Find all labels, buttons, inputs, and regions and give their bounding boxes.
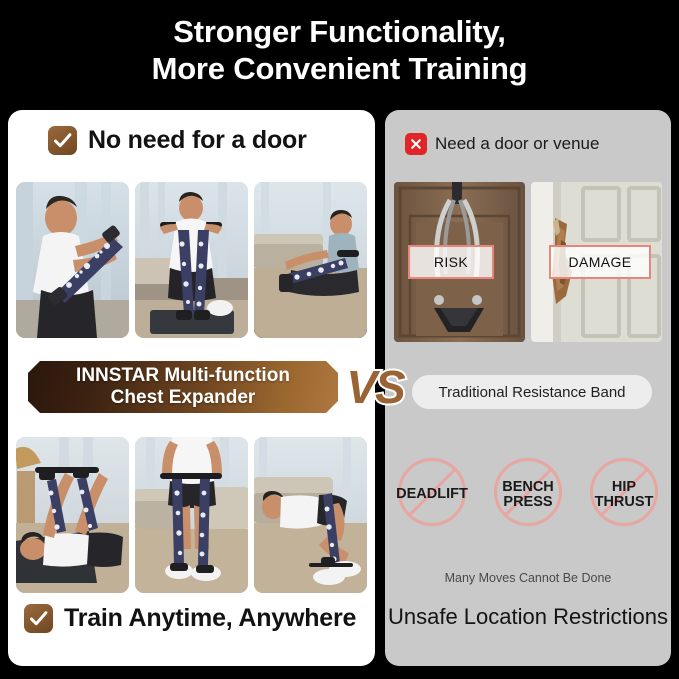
prohibited-exercises-row: DEADLIFT BENCH PRESS HIP THRUST — [392, 455, 664, 535]
damage-warning-tag: DAMAGE — [549, 245, 651, 279]
right-panel-header: Need a door or venue — [405, 133, 599, 155]
photo-band-on-door: RISK — [394, 182, 525, 342]
page-title: Stronger Functionality, More Convenient … — [0, 14, 679, 87]
left-panel-header-label: No need for a door — [88, 126, 307, 155]
right-panel-big-note: Unsafe Location Restrictions — [385, 604, 671, 630]
left-panel-footer: Train Anytime, Anywhere — [24, 604, 356, 633]
vs-badge: VS — [340, 358, 410, 416]
check-square-icon — [24, 604, 53, 633]
left-photo-row-top — [16, 182, 367, 338]
photo-damaged-door: DAMAGE — [531, 182, 662, 342]
prohibited-exercise-item: BENCH PRESS — [488, 455, 568, 535]
prohibited-exercise-label: DEADLIFT — [396, 487, 468, 502]
page-title-line-2: More Convenient Training — [0, 51, 679, 88]
right-panel-header-label: Need a door or venue — [435, 134, 599, 154]
check-square-icon — [48, 126, 77, 155]
x-square-icon — [405, 133, 427, 155]
banner-line-1: INNSTAR Multi-function — [76, 365, 290, 387]
prohibited-exercise-label: BENCH PRESS — [502, 480, 554, 511]
traditional-band-pill: Traditional Resistance Band — [412, 375, 652, 409]
banner-line-2: Chest Expander — [111, 387, 256, 409]
prohibited-exercise-item: DEADLIFT — [392, 455, 472, 535]
prohibited-exercise-label: HIP THRUST — [595, 480, 654, 511]
page-title-line-1: Stronger Functionality, — [0, 14, 679, 51]
photo-seated-row — [254, 182, 367, 338]
prohibited-exercise-item: HIP THRUST — [584, 455, 664, 535]
photo-standing-chest-press — [16, 182, 129, 338]
left-panel-footer-label: Train Anytime, Anywhere — [64, 604, 356, 633]
photo-standing-deadlift — [135, 437, 248, 593]
right-panel-sub-note: Many Moves Cannot Be Done — [385, 571, 671, 585]
left-panel-header: No need for a door — [48, 126, 307, 155]
left-photo-row-bottom — [16, 437, 367, 593]
door-photo-row: RISK DAMAGE — [394, 182, 662, 342]
product-name-banner: INNSTAR Multi-function Chest Expander — [28, 361, 338, 413]
photo-floor-bench-press — [16, 437, 129, 593]
photo-hip-thrust — [254, 437, 367, 593]
risk-warning-tag: RISK — [408, 245, 494, 279]
photo-kneeling-overhead-pull — [135, 182, 248, 338]
